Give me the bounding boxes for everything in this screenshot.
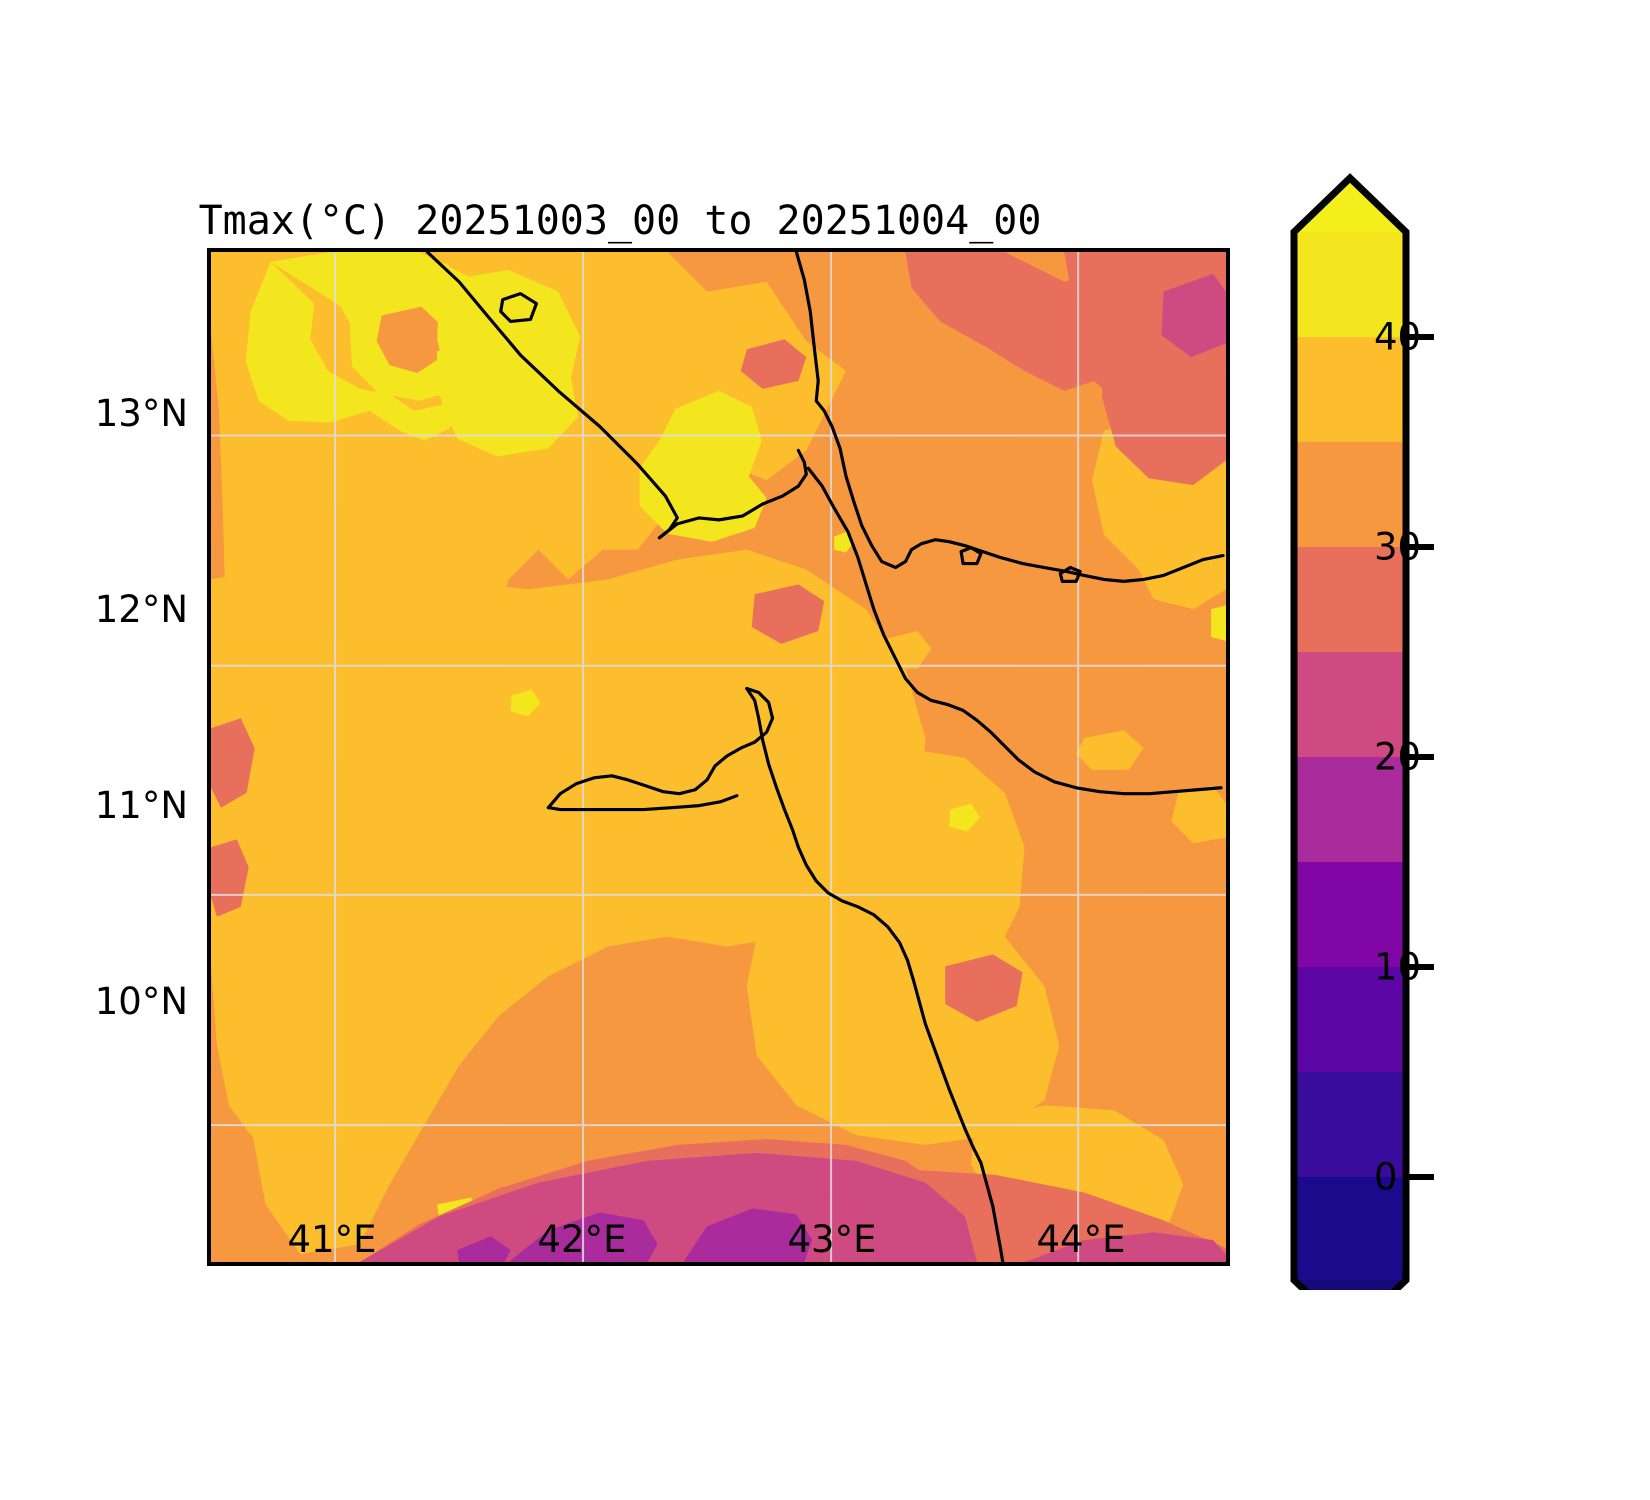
chart-title-line-1: Tmax(°C) 20251003_00 to 20251004_00	[0, 198, 1240, 245]
colorbar-swatches	[1288, 170, 1618, 1290]
ytick-label-10N: 10°N	[95, 980, 188, 1023]
ytick-label-12N: 12°N	[95, 588, 188, 631]
xtick-label-43E: 43°E	[742, 1218, 922, 1261]
colorbar-tick-10: 10	[1374, 946, 1421, 989]
colorbar-tick-20: 20	[1374, 736, 1421, 779]
figure-root: Tmax(°C) 20251003_00 to 20251004_00 Simu…	[0, 0, 1650, 1500]
colorbar-tick-40: 40	[1374, 316, 1421, 359]
colorbar[interactable]: 40 30 20 10 0	[1288, 170, 1618, 1290]
ytick-label-13N: 13°N	[95, 392, 188, 435]
xtick-label-44E: 44°E	[991, 1218, 1171, 1261]
xtick-label-41E: 41°E	[242, 1218, 422, 1261]
ytick-label-11N: 11°N	[95, 784, 188, 827]
map-axes[interactable]	[207, 248, 1230, 1266]
temperature-contour-field	[211, 252, 1226, 1262]
xtick-label-42E: 42°E	[492, 1218, 672, 1261]
colorbar-tick-30: 30	[1374, 526, 1421, 569]
colorbar-tick-0: 0	[1374, 1156, 1398, 1199]
